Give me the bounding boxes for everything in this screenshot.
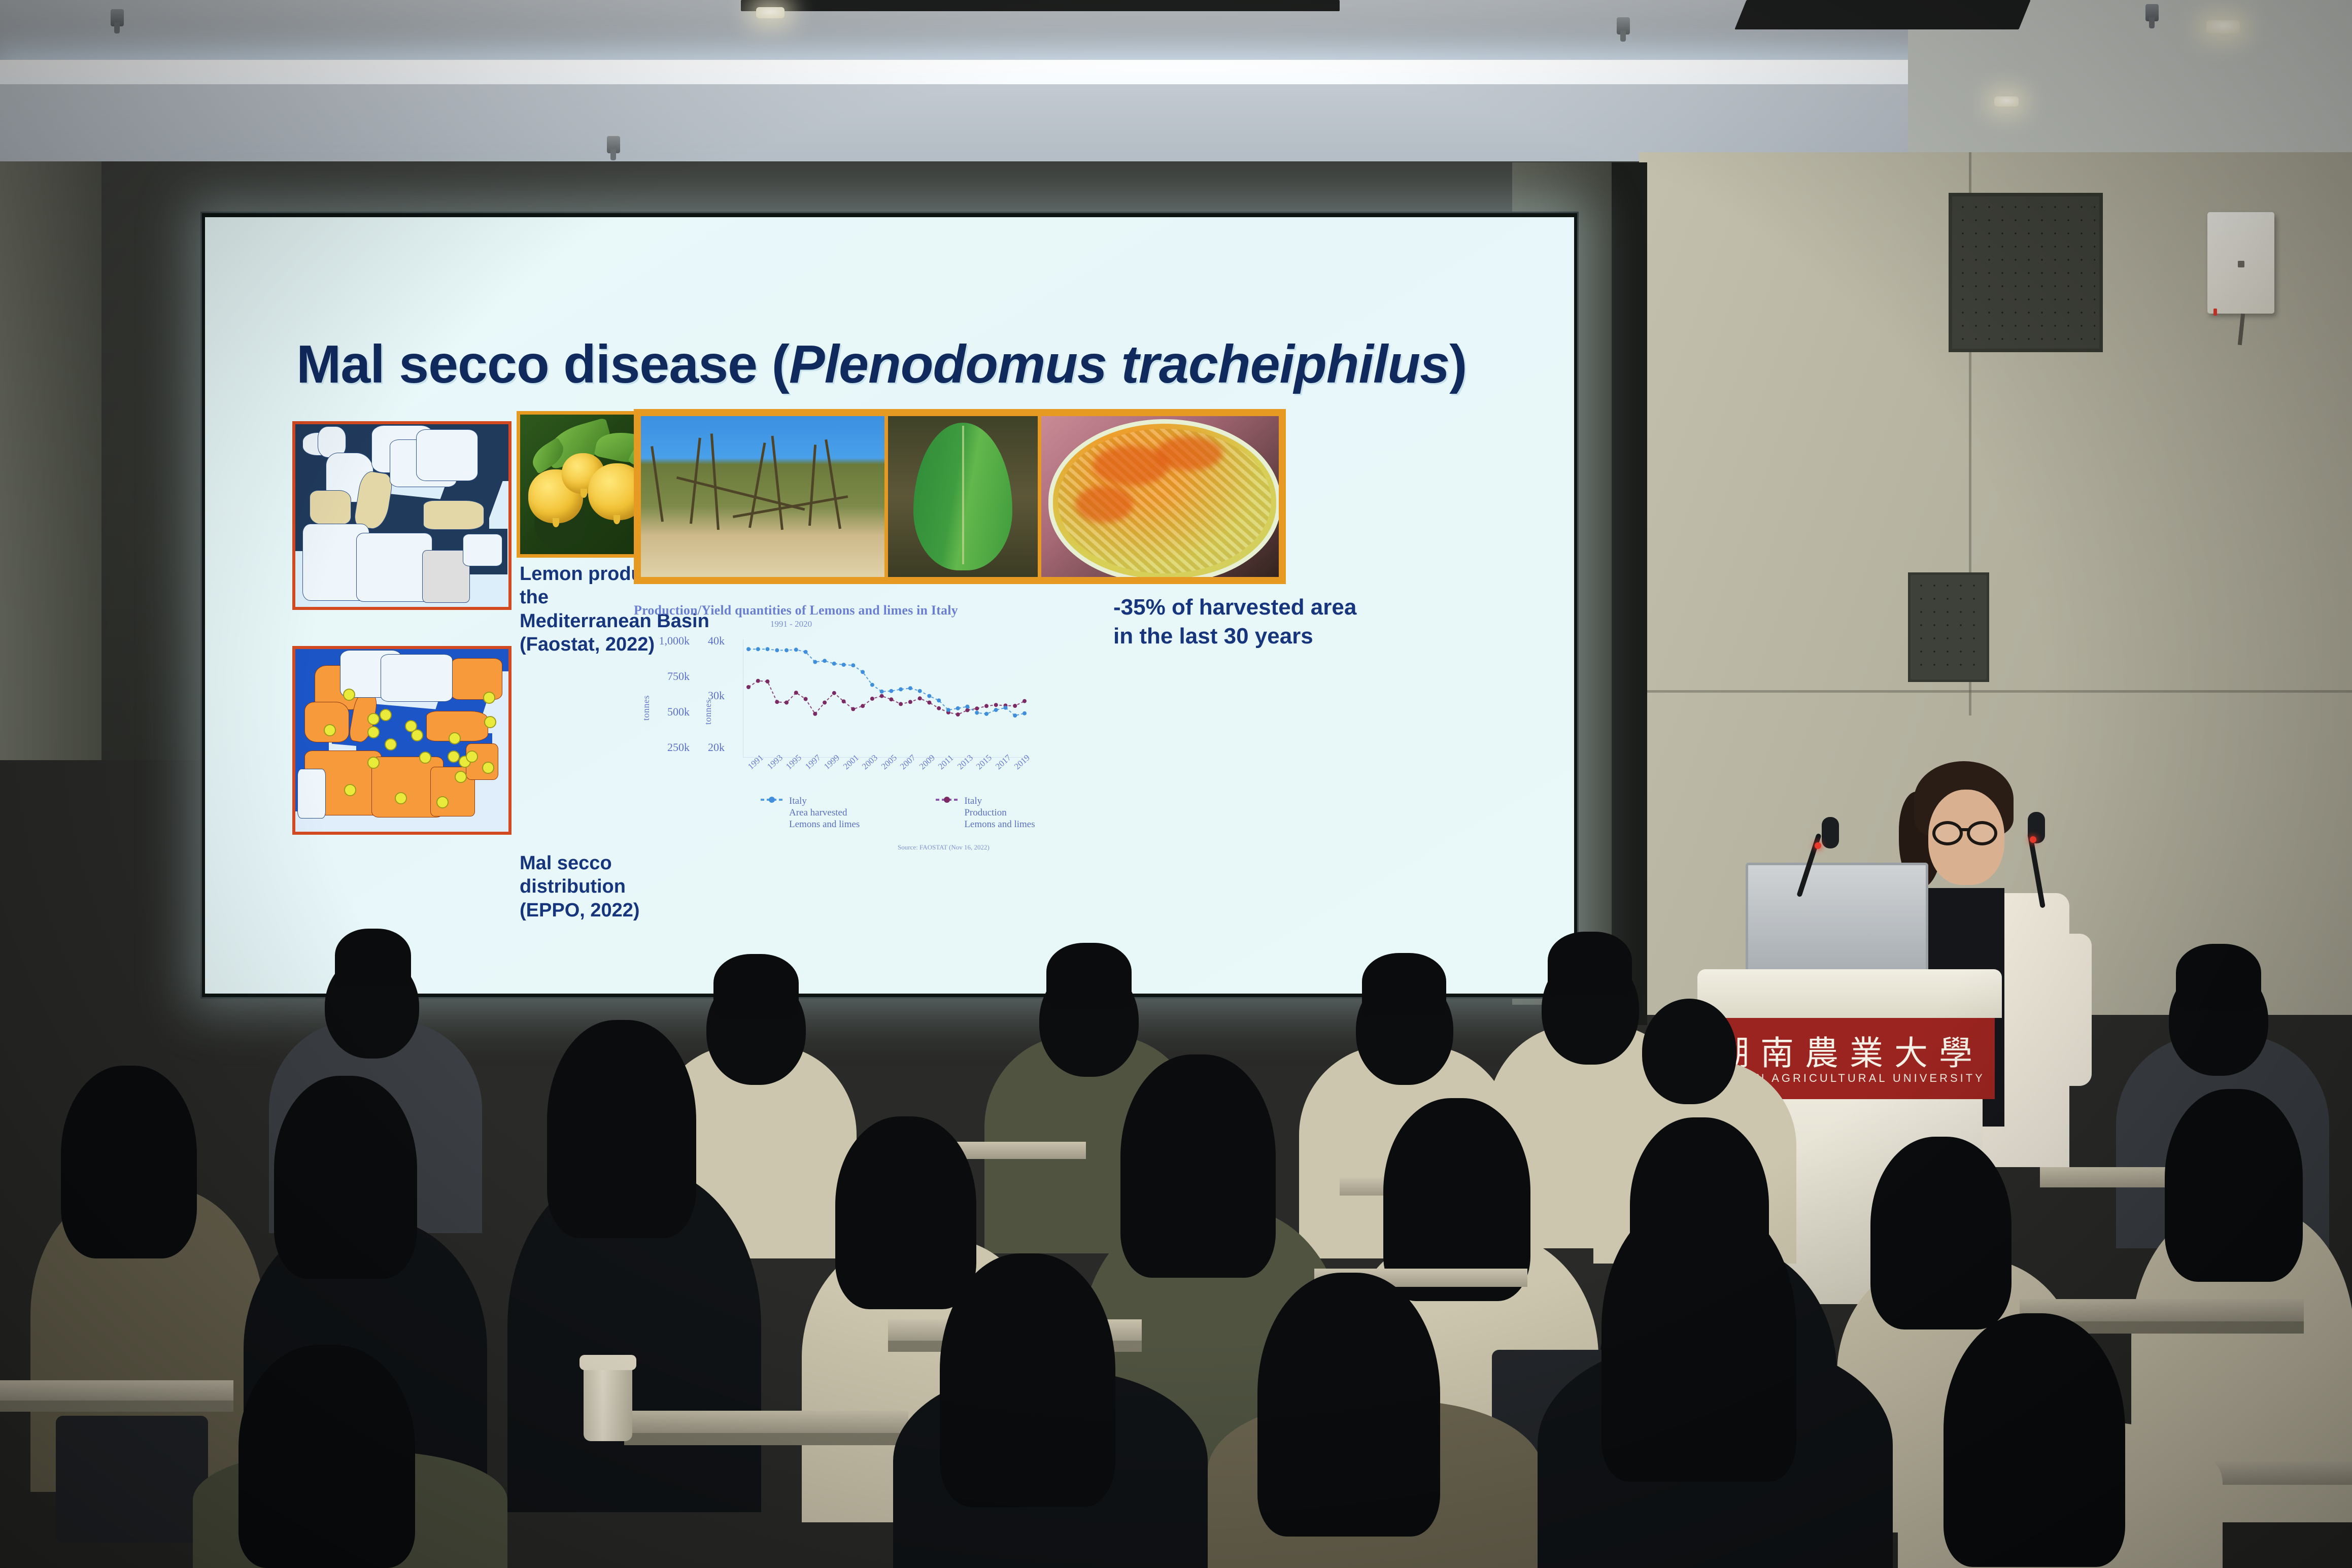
venue-name-cn: 湖南農業大學 (1716, 1026, 1984, 1075)
y-tick-right-1: 30k (708, 689, 725, 702)
sprinkler-icon (607, 136, 620, 153)
slide-title-main: Mal secco disease ( (296, 334, 789, 394)
lecture-hall-photo: Mal secco disease (Plenodomus tracheiphi… (0, 0, 2352, 1568)
eppo-mal-secco-distribution-map (292, 646, 512, 835)
ceiling-strip-light (0, 60, 2111, 84)
podium-nameplate: 湖南農業大學 HUNAN AGRICULTURAL UNIVERSITY (1705, 1018, 1995, 1099)
sprinkler-icon (2145, 4, 2159, 21)
y-tick-right-0: 40k (708, 634, 725, 647)
distribution-dot (385, 738, 397, 751)
audience-head (1394, 1121, 1518, 1267)
legend-blue-line1: Italy (789, 796, 860, 807)
water-bottle-icon[interactable] (1710, 1299, 1736, 1401)
microphone-icon (1822, 817, 1839, 848)
chart-callout-annotation: -35% of harvested area in the last 30 ye… (1113, 593, 1428, 651)
distribution-dot (380, 709, 392, 721)
distribution-dot (484, 716, 496, 728)
coffee-cup-icon[interactable] (584, 1365, 632, 1441)
eyeglasses-bridge (1960, 828, 1970, 831)
distribution-dot (395, 792, 407, 804)
venue-name-en: HUNAN AGRICULTURAL UNIVERSITY (1714, 1072, 1985, 1085)
sprinkler-icon (111, 9, 124, 26)
audience-head (71, 1081, 188, 1218)
distribution-dot (367, 713, 380, 725)
audience-head (1274, 1299, 1426, 1472)
podium: 湖南農業大學 HUNAN AGRICULTURAL UNIVERSITY (1697, 969, 2002, 1304)
ceiling-lower (0, 84, 1913, 161)
distribution-dot (436, 796, 449, 808)
legend-blue-line3: Lemons and limes (789, 819, 860, 831)
mediterranean-lemon-production-map (292, 421, 512, 610)
presentation-slide: Mal secco disease (Plenodomus tracheiphi… (205, 217, 1574, 994)
legend-purple-line2: Production (964, 807, 1035, 819)
legend-purple-line3: Lemons and limes (964, 819, 1035, 831)
y-axis-label-right: tonnes (703, 699, 713, 725)
chart-plot-area (743, 639, 1028, 758)
legend-purple-line1: Italy (964, 796, 1035, 807)
audience-head (2175, 1111, 2292, 1246)
audience-head (284, 1101, 406, 1243)
wall-mounted-device-icon (2207, 212, 2274, 314)
y-tick-right-2: 20k (708, 741, 725, 754)
chart-source-note: Source: FAOSTAT (Nov 16, 2022) (898, 843, 990, 851)
sprinkler-icon (1617, 17, 1630, 35)
distribution-dot (367, 726, 380, 738)
ceiling-slot-vent (741, 0, 1340, 11)
legend-marker-blue (761, 799, 783, 801)
distribution-dot (324, 724, 336, 736)
distribution-dot (367, 757, 380, 769)
eyeglasses-icon (1967, 821, 1997, 845)
ceiling-downlight-icon (1994, 96, 2019, 107)
distribution-dot (466, 751, 478, 763)
y-tick-left-0: 1,000k (643, 634, 690, 647)
acoustic-panel-icon (1908, 572, 1989, 682)
audience-head (844, 1137, 964, 1276)
podium-top (1697, 969, 2002, 1018)
chlorotic-leaf-photo (888, 416, 1038, 577)
disease-symptom-photo-strip (634, 409, 1286, 584)
wall-seam (1639, 690, 2352, 693)
distribution-dot (448, 751, 460, 763)
acoustic-panel-icon (1949, 193, 2103, 352)
audience-head (1134, 1081, 1264, 1233)
ceiling-downlight-icon (756, 7, 785, 18)
distribution-dot (419, 752, 431, 764)
distribution-dot (343, 689, 355, 701)
chart-subtitle: 1991 - 2020 (634, 619, 948, 629)
distribution-dot (455, 771, 467, 783)
slide-title-species: Plenodomus tracheiphilus (789, 334, 1449, 394)
audience-head (954, 1279, 1101, 1446)
legend-marker-purple (936, 799, 958, 801)
legend-item-production: Italy Production Lemons and limes (936, 796, 1035, 830)
audience-head (1959, 1340, 2111, 1512)
ceiling-downlight-icon (2206, 20, 2240, 33)
distribution-dot (344, 784, 356, 796)
petri-dish-culture-photo (1041, 416, 1279, 577)
legend-item-area-harvested: Italy Area harvested Lemons and limes (761, 796, 860, 830)
chart-legend: Italy Area harvested Lemons and limes It… (761, 796, 1035, 830)
distribution-dot (449, 732, 461, 744)
chart-svg (743, 639, 1028, 757)
presenter-arm (2045, 934, 2092, 1086)
audience-head (254, 1370, 401, 1538)
distribution-dot (482, 762, 494, 774)
distribution-dot (483, 692, 495, 704)
wall-pillar-dark (1612, 162, 1647, 1025)
y-tick-left-2: 500k (643, 705, 690, 719)
diseased-lemon-orchard-photo (641, 416, 884, 577)
audience-head (558, 1045, 684, 1192)
ceiling-slot-vent-right (1734, 0, 2030, 29)
microphone-led (1815, 842, 1821, 849)
slide-title-close: ) (1449, 334, 1467, 394)
y-tick-left-1: 750k (643, 670, 690, 683)
chart-title: Production/Yield quantities of Lemons an… (634, 603, 1101, 618)
production-yield-chart: Production/Yield quantities of Lemons an… (634, 603, 1101, 821)
left-wall-panel (0, 161, 101, 760)
slide-title: Mal secco disease (Plenodomus tracheiphi… (296, 334, 1514, 395)
eyeglasses-icon (1932, 821, 1963, 845)
laptop-icon[interactable] (1746, 863, 1928, 977)
podium-body (1717, 1099, 1983, 1304)
microphone-led (2030, 836, 2036, 843)
caption-mal-secco-distribution: Mal secco distribution (EPPO, 2022) (520, 851, 702, 922)
y-tick-left-3: 250k (643, 741, 690, 754)
distribution-dot (411, 729, 423, 741)
legend-blue-line2: Area harvested (789, 807, 860, 819)
